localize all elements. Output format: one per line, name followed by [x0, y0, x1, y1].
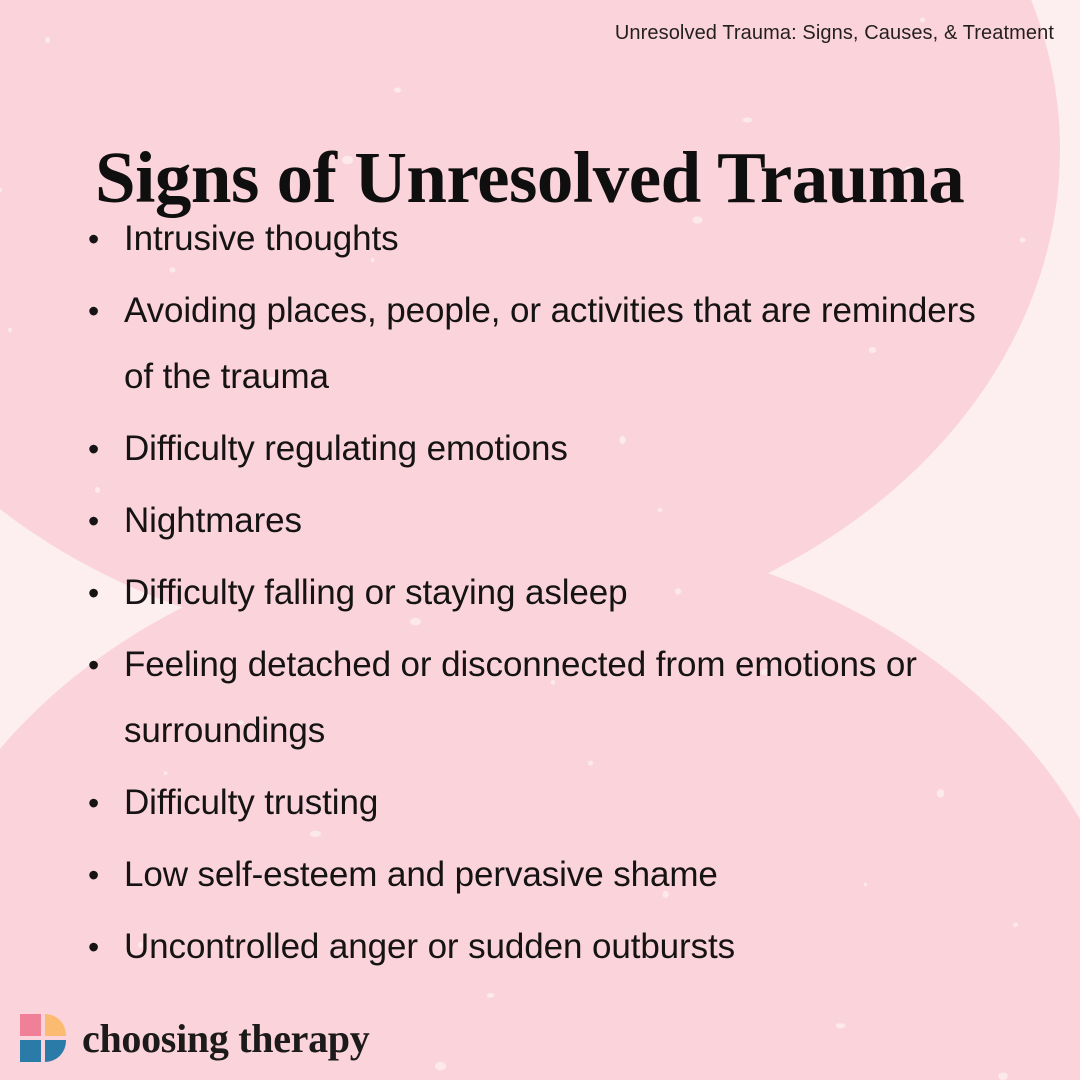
list-item: Difficulty falling or staying asleep — [82, 560, 1012, 626]
brand-wordmark: choosing therapy — [82, 1015, 369, 1062]
infographic-canvas: Unresolved Trauma: Signs, Causes, & Trea… — [0, 0, 1080, 1080]
article-title-note: Unresolved Trauma: Signs, Causes, & Trea… — [615, 22, 1054, 45]
brand-logo: choosing therapy — [20, 1014, 369, 1062]
list-item: Feeling detached or disconnected from em… — [82, 632, 1012, 764]
signs-list: Intrusive thoughts Avoiding places, peop… — [82, 206, 1012, 986]
logo-quadrant-top-left — [20, 1014, 41, 1036]
list-item: Uncontrolled anger or sudden outbursts — [82, 914, 1012, 980]
list-item: Intrusive thoughts — [82, 206, 1012, 272]
logo-quadrant-bottom-right — [45, 1040, 66, 1062]
list-item: Avoiding places, people, or activities t… — [82, 278, 1012, 410]
list-item: Difficulty trusting — [82, 770, 1012, 836]
list-item: Nightmares — [82, 488, 1012, 554]
list-item: Difficulty regulating emotions — [82, 416, 1012, 482]
choosing-therapy-quadrant-logo-icon — [20, 1014, 66, 1062]
logo-quadrant-bottom-left — [20, 1040, 41, 1062]
list-item: Low self-esteem and pervasive shame — [82, 842, 1012, 908]
page-title: Signs of Unresolved Trauma — [95, 141, 964, 214]
logo-quadrant-top-right — [45, 1014, 66, 1036]
